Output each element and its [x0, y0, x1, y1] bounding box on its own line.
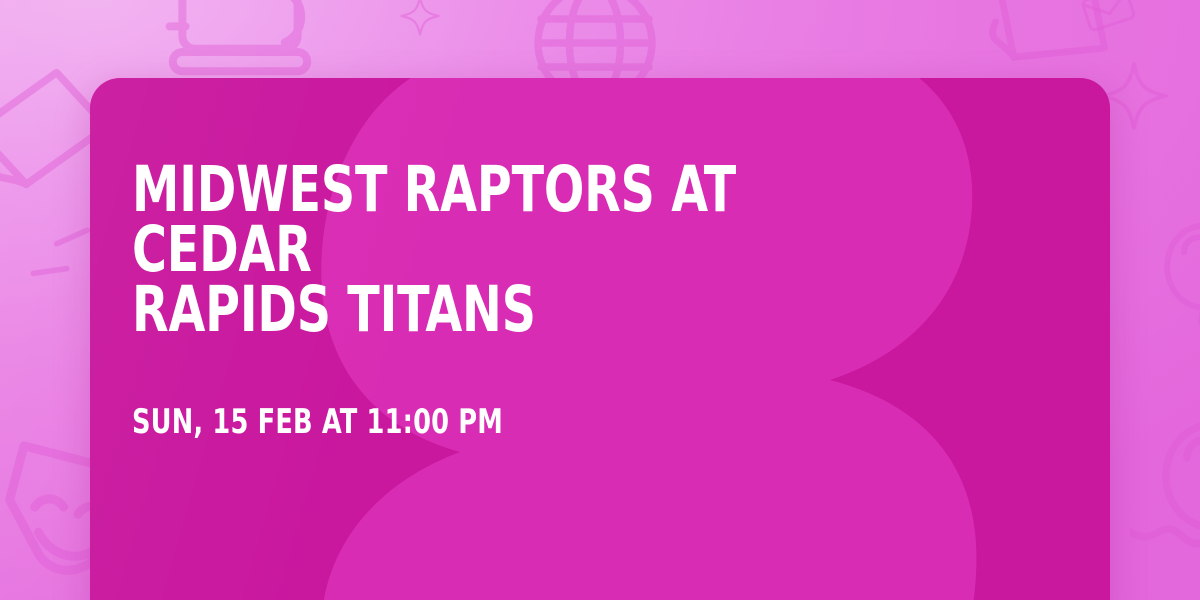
event-title: Midwest Raptors at Cedar Rapids Titans — [132, 160, 903, 340]
event-banner: Midwest Raptors at Cedar Rapids Titans S… — [0, 0, 1200, 600]
event-datetime: Sun, 15 Feb at 11:00 PM — [132, 402, 903, 442]
event-card[interactable]: Midwest Raptors at Cedar Rapids Titans S… — [90, 78, 1110, 600]
event-card-content: Midwest Raptors at Cedar Rapids Titans S… — [132, 160, 1050, 442]
